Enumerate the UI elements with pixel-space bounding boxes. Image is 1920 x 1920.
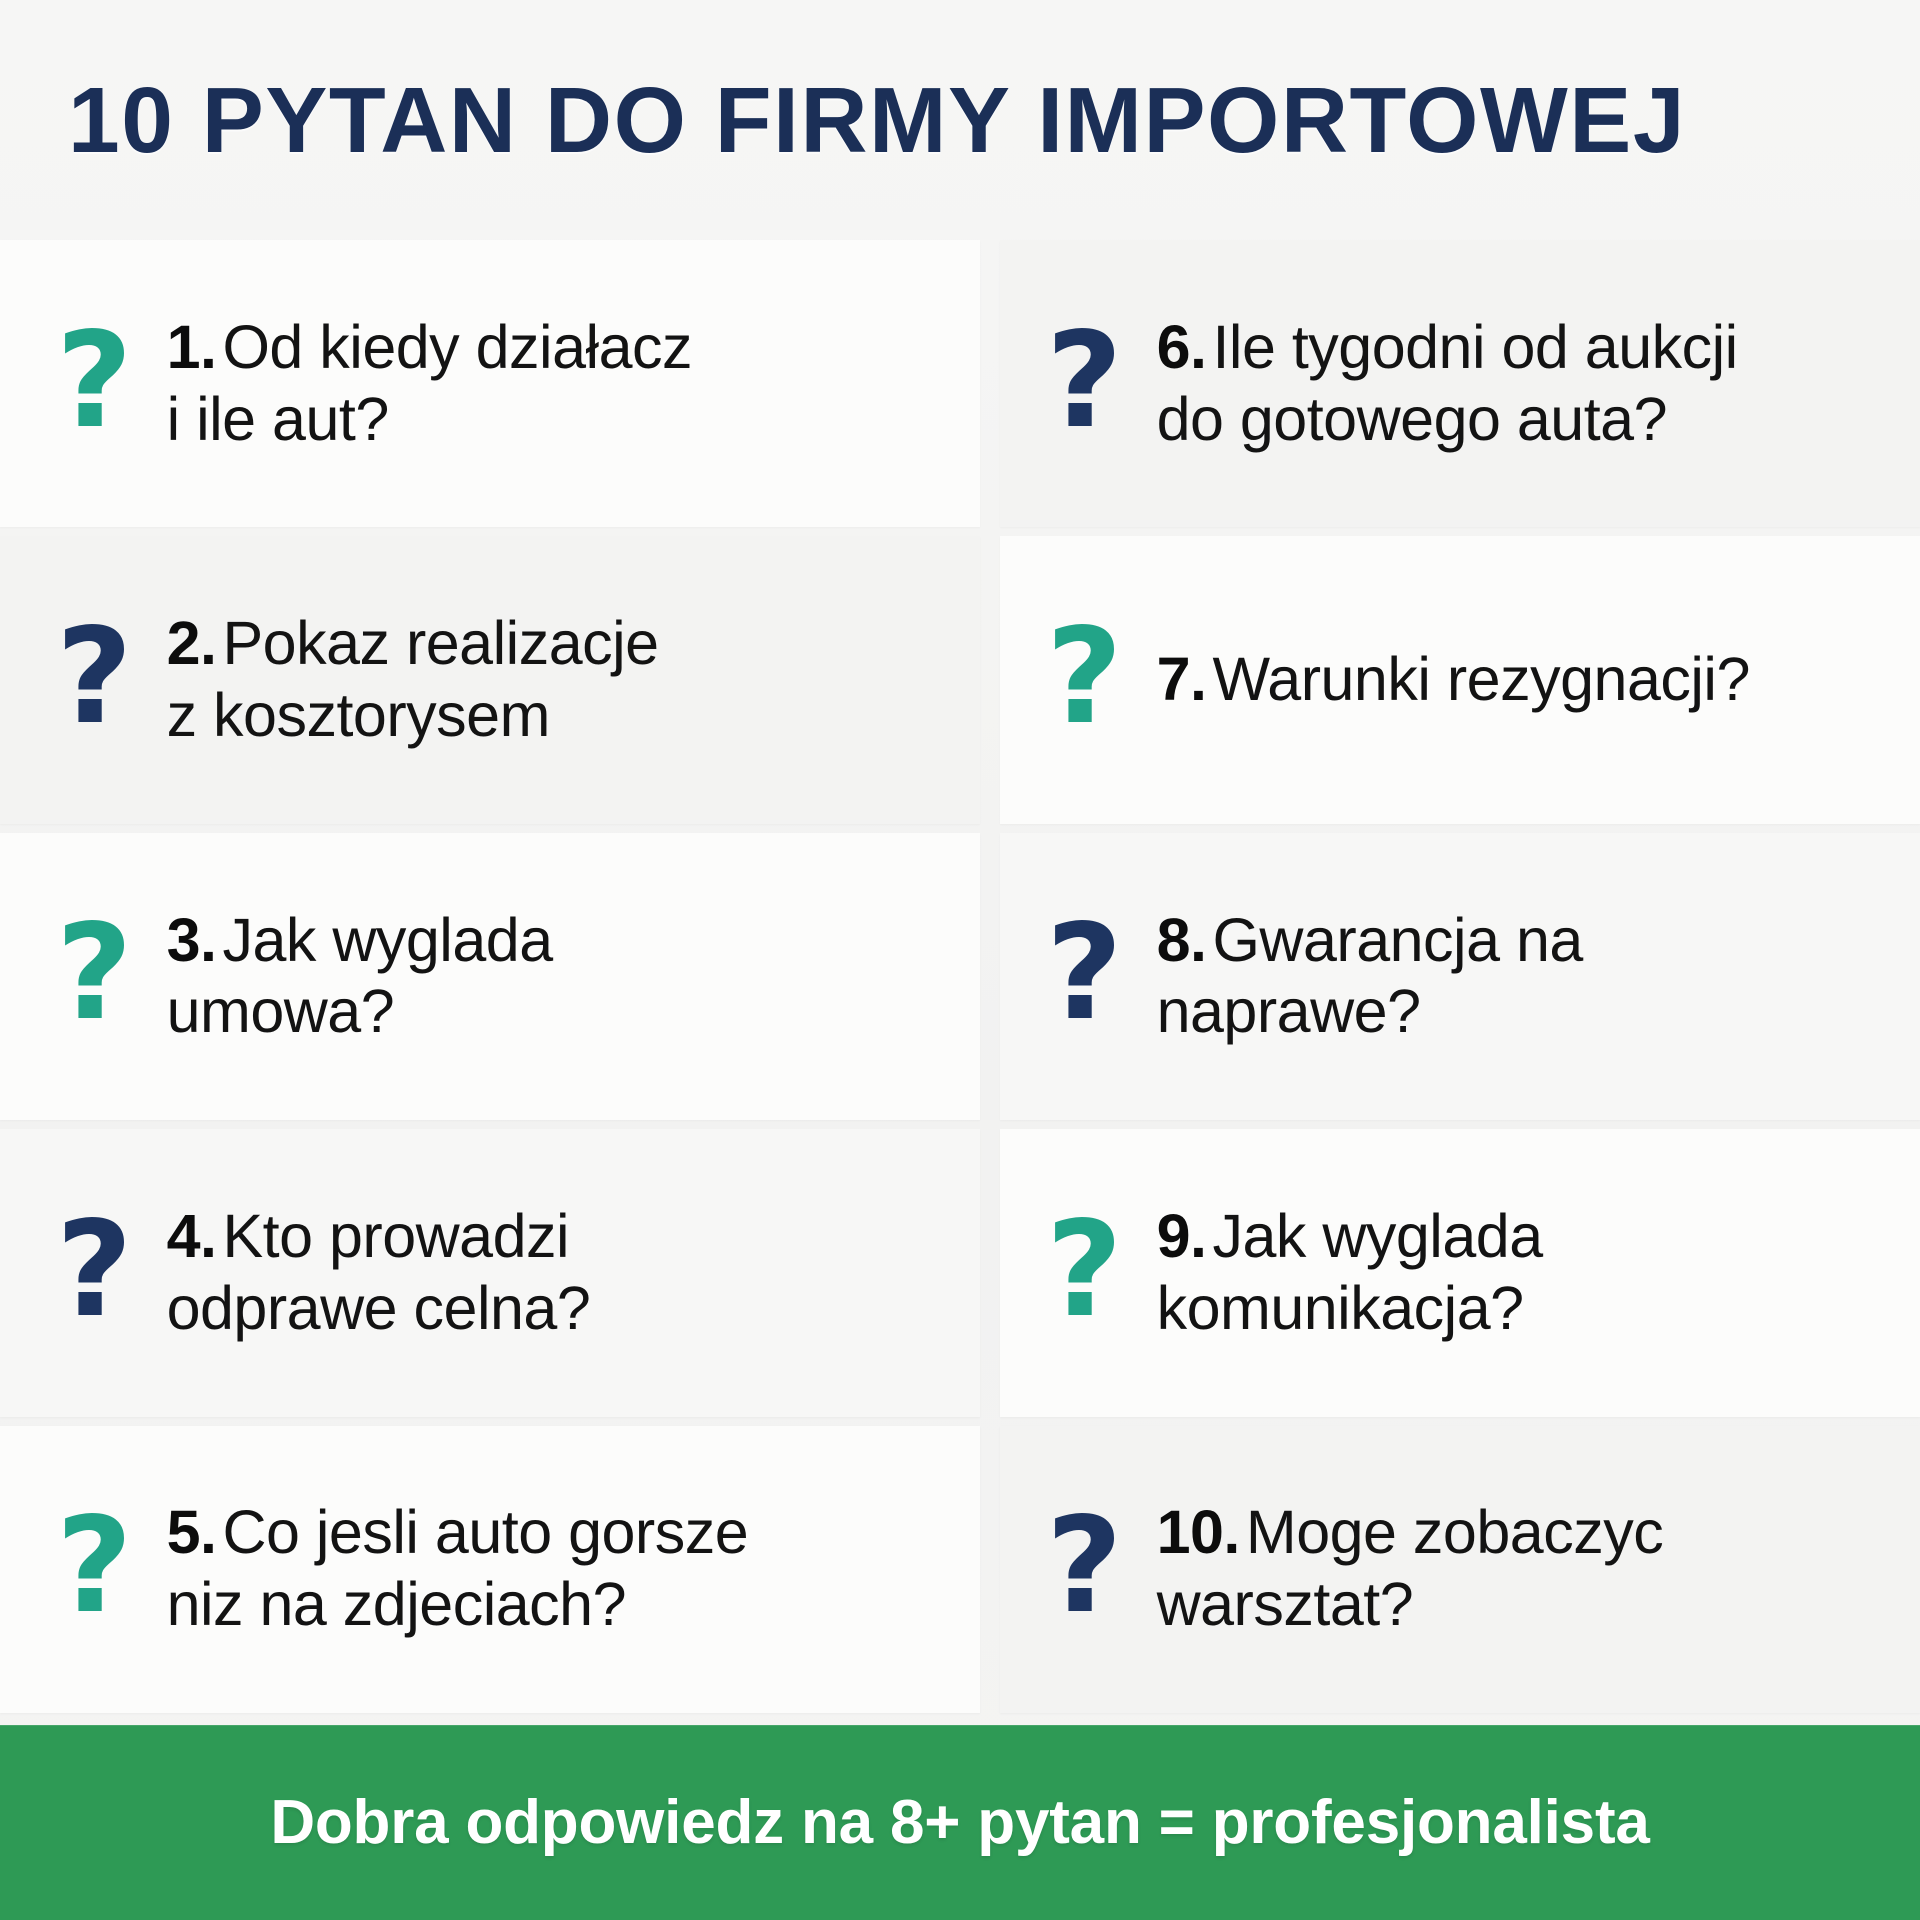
question-mark-icon: ? <box>1046 1512 1123 1620</box>
question-number-6: 6. <box>1157 313 1207 381</box>
question-mark-icon: ? <box>56 623 133 731</box>
question-line2-4: odprawe celna? <box>167 1274 591 1342</box>
question-mark-icon: ? <box>1046 327 1123 435</box>
questions-grid: ? 1.Od kiedy działacz i ile aut? ? 6.Ile… <box>0 240 1920 1725</box>
question-text-4: 4.Kto prowadzi odprawe celna? <box>167 1201 591 1345</box>
question-number-10: 10. <box>1157 1498 1240 1566</box>
question-mark-icon: ? <box>56 327 133 435</box>
question-card-5[interactable]: ? 5.Co jesli auto gorsze niz na zdjeciac… <box>0 1426 980 1713</box>
question-line2-6: do gotowego auta? <box>1157 385 1667 453</box>
question-line2-10: warsztat? <box>1157 1570 1414 1638</box>
question-line1-9: Jak wyglada <box>1212 1202 1542 1270</box>
question-mark-icon: ? <box>56 1216 133 1324</box>
question-number-5: 5. <box>167 1498 217 1566</box>
question-card-8[interactable]: ? 8.Gwarancja na naprawe? <box>1000 833 1920 1120</box>
question-number-2: 2. <box>167 609 217 677</box>
question-text-5: 5.Co jesli auto gorsze niz na zdjeciach? <box>167 1497 749 1641</box>
question-line2-2: z kosztorysem <box>167 681 550 749</box>
question-card-3[interactable]: ? 3.Jak wyglada umowa? <box>0 833 980 1120</box>
question-line1-5: Co jesli auto gorsze <box>222 1498 748 1566</box>
question-card-1[interactable]: ? 1.Od kiedy działacz i ile aut? <box>0 240 980 527</box>
question-card-4[interactable]: ? 4.Kto prowadzi odprawe celna? <box>0 1129 980 1416</box>
question-line2-8: naprawe? <box>1157 977 1421 1045</box>
question-text-10: 10.Moge zobaczyc warsztat? <box>1157 1497 1664 1641</box>
question-mark-icon: ? <box>1046 919 1123 1027</box>
question-number-3: 3. <box>167 906 217 974</box>
question-text-1: 1.Od kiedy działacz i ile aut? <box>167 312 692 456</box>
question-number-8: 8. <box>1157 906 1207 974</box>
infographic-root: 10 PYTAN DO FIRMY IMPORTOWEJ ? 1.Od kied… <box>0 0 1920 1920</box>
question-card-10[interactable]: ? 10.Moge zobaczyc warsztat? <box>1000 1426 1920 1713</box>
question-text-6: 6.Ile tygodni od aukcji do gotowego auta… <box>1157 312 1738 456</box>
question-card-2[interactable]: ? 2.Pokaz realizacje z kosztorysem <box>0 536 980 823</box>
question-line2-3: umowa? <box>167 977 395 1045</box>
question-text-7: 7.Warunki rezygnacji? <box>1157 644 1750 716</box>
question-mark-icon: ? <box>1046 623 1123 731</box>
question-line2-5: niz na zdjeciach? <box>167 1570 626 1638</box>
question-number-7: 7. <box>1157 645 1207 713</box>
question-number-1: 1. <box>167 313 217 381</box>
question-mark-icon: ? <box>1046 1216 1123 1324</box>
question-line1-4: Kto prowadzi <box>222 1202 569 1270</box>
question-mark-icon: ? <box>56 919 133 1027</box>
question-card-6[interactable]: ? 6.Ile tygodni od aukcji do gotowego au… <box>1000 240 1920 527</box>
question-text-2: 2.Pokaz realizacje z kosztorysem <box>167 608 659 752</box>
footer-text: Dobra odpowiedz na 8+ pytan = profesjona… <box>270 1787 1649 1858</box>
question-line1-7: Warunki rezygnacji? <box>1212 645 1749 713</box>
question-mark-icon: ? <box>56 1512 133 1620</box>
question-line1-6: Ile tygodni od aukcji <box>1212 313 1737 381</box>
footer-banner: Dobra odpowiedz na 8+ pytan = profesjona… <box>0 1725 1920 1920</box>
question-line1-10: Moge zobaczyc <box>1246 1498 1663 1566</box>
question-line2-1: i ile aut? <box>167 385 389 453</box>
title-bar: 10 PYTAN DO FIRMY IMPORTOWEJ <box>0 0 1920 240</box>
question-text-8: 8.Gwarancja na naprawe? <box>1157 905 1583 1049</box>
question-number-9: 9. <box>1157 1202 1207 1270</box>
question-line1-8: Gwarancja na <box>1212 906 1582 974</box>
question-line1-2: Pokaz realizacje <box>222 609 658 677</box>
page-title: 10 PYTAN DO FIRMY IMPORTOWEJ <box>68 74 1686 167</box>
question-text-3: 3.Jak wyglada umowa? <box>167 905 553 1049</box>
question-number-4: 4. <box>167 1202 217 1270</box>
question-line1-1: Od kiedy działacz <box>222 313 692 381</box>
question-line2-9: komunikacja? <box>1157 1274 1524 1342</box>
question-line1-3: Jak wyglada <box>222 906 552 974</box>
question-card-7[interactable]: ? 7.Warunki rezygnacji? <box>1000 536 1920 823</box>
question-card-9[interactable]: ? 9.Jak wyglada komunikacja? <box>1000 1129 1920 1416</box>
question-text-9: 9.Jak wyglada komunikacja? <box>1157 1201 1543 1345</box>
